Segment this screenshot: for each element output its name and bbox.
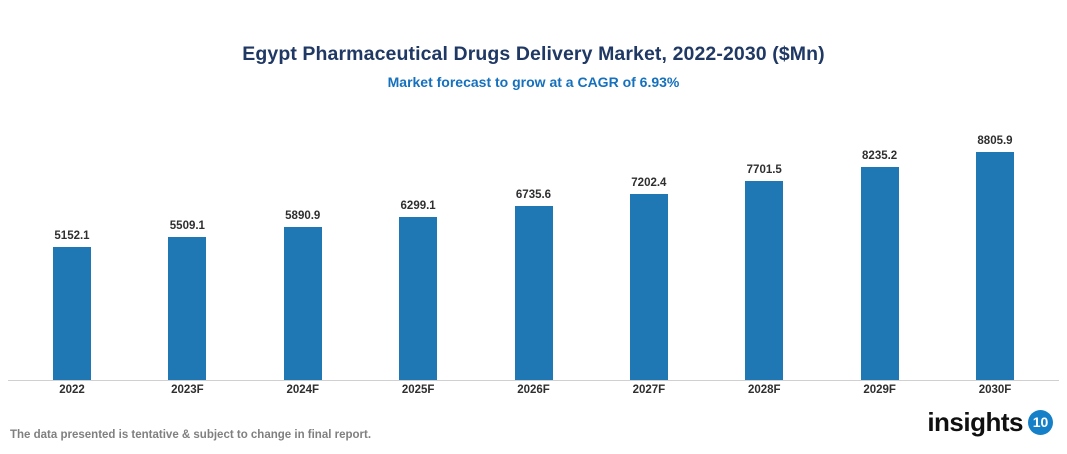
logo-wordmark: insights: [927, 409, 1023, 435]
bar-rect: [515, 206, 553, 380]
plot-area: 5152.15509.15890.96299.16735.67202.47701…: [0, 110, 1067, 381]
bar-item: 5890.9: [257, 110, 349, 380]
bar-item: 6735.6: [488, 110, 580, 380]
bar-rect: [630, 194, 668, 380]
bar-item: 5152.1: [26, 110, 118, 380]
bar-item: 7202.4: [603, 110, 695, 380]
x-axis-tick-label: 2022: [26, 383, 118, 397]
bar-value-label: 8235.2: [862, 150, 897, 163]
chart-canvas: Egypt Pharmaceutical Drugs Delivery Mark…: [0, 0, 1067, 454]
bar-value-label: 7202.4: [631, 177, 666, 190]
chart-subtitle: Market forecast to grow at a CAGR of 6.9…: [0, 72, 1067, 92]
bar-value-label: 7701.5: [747, 164, 782, 177]
x-axis-line: [8, 380, 1059, 381]
x-axis-tick-label: 2024F: [257, 383, 349, 397]
x-axis-tick-label: 2023F: [141, 383, 233, 397]
bar-rect: [976, 152, 1014, 380]
bar-item: 5509.1: [141, 110, 233, 380]
x-axis-tick-label: 2026F: [488, 383, 580, 397]
insights10-logo: insights 10: [927, 405, 1053, 439]
bar-value-label: 5509.1: [170, 220, 205, 233]
chart-title: Egypt Pharmaceutical Drugs Delivery Mark…: [0, 42, 1067, 66]
x-axis-tick-label: 2028F: [718, 383, 810, 397]
bar-rect: [53, 247, 91, 380]
x-axis-tick-label: 2025F: [372, 383, 464, 397]
x-axis-tick-label: 2029F: [834, 383, 926, 397]
x-axis-tick-labels: 20222023F2024F2025F2026F2027F2028F2029F2…: [0, 383, 1067, 397]
bar-item: 8805.9: [949, 110, 1041, 380]
bar-value-label: 5152.1: [54, 230, 89, 243]
bar-value-label: 6299.1: [401, 200, 436, 213]
disclaimer-text: The data presented is tentative & subjec…: [10, 428, 371, 442]
title-block: Egypt Pharmaceutical Drugs Delivery Mark…: [0, 42, 1067, 92]
x-axis-tick-label: 2030F: [949, 383, 1041, 397]
bar-rect: [168, 237, 206, 380]
x-axis-tick-label: 2027F: [603, 383, 695, 397]
bar-item: 6299.1: [372, 110, 464, 380]
bar-value-label: 8805.9: [977, 135, 1012, 148]
logo-badge-icon: 10: [1028, 410, 1053, 435]
bar-rect: [399, 217, 437, 380]
bar-value-label: 6735.6: [516, 189, 551, 202]
bar-item: 7701.5: [718, 110, 810, 380]
bar-series: 5152.15509.15890.96299.16735.67202.47701…: [0, 110, 1067, 380]
bar-rect: [745, 181, 783, 380]
bar-rect: [861, 167, 899, 380]
bar-item: 8235.2: [834, 110, 926, 380]
bar-rect: [284, 227, 322, 380]
bar-value-label: 5890.9: [285, 210, 320, 223]
